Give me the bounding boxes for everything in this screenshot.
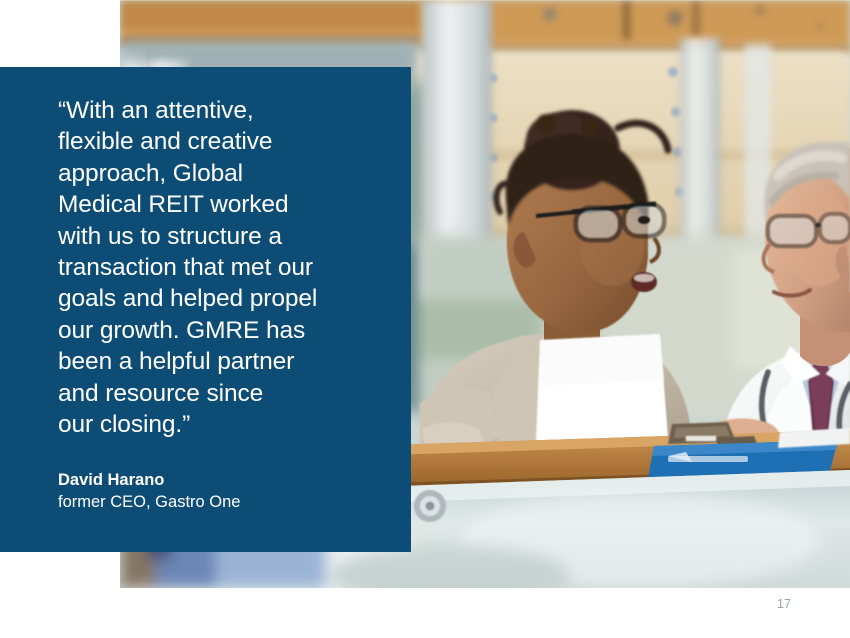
attribution-block: David Harano former CEO, Gastro One [58,469,397,513]
quote-text: “With an attentive, flexible and creativ… [58,95,397,440]
slide-canvas: “With an attentive, flexible and creativ… [0,0,850,638]
attribution-role: former CEO, Gastro One [58,491,397,513]
testimonial-panel: “With an attentive, flexible and creativ… [0,67,411,552]
attribution-name: David Harano [58,469,397,491]
page-number: 17 [764,597,804,611]
testimonial-content: “With an attentive, flexible and creativ… [58,95,397,513]
